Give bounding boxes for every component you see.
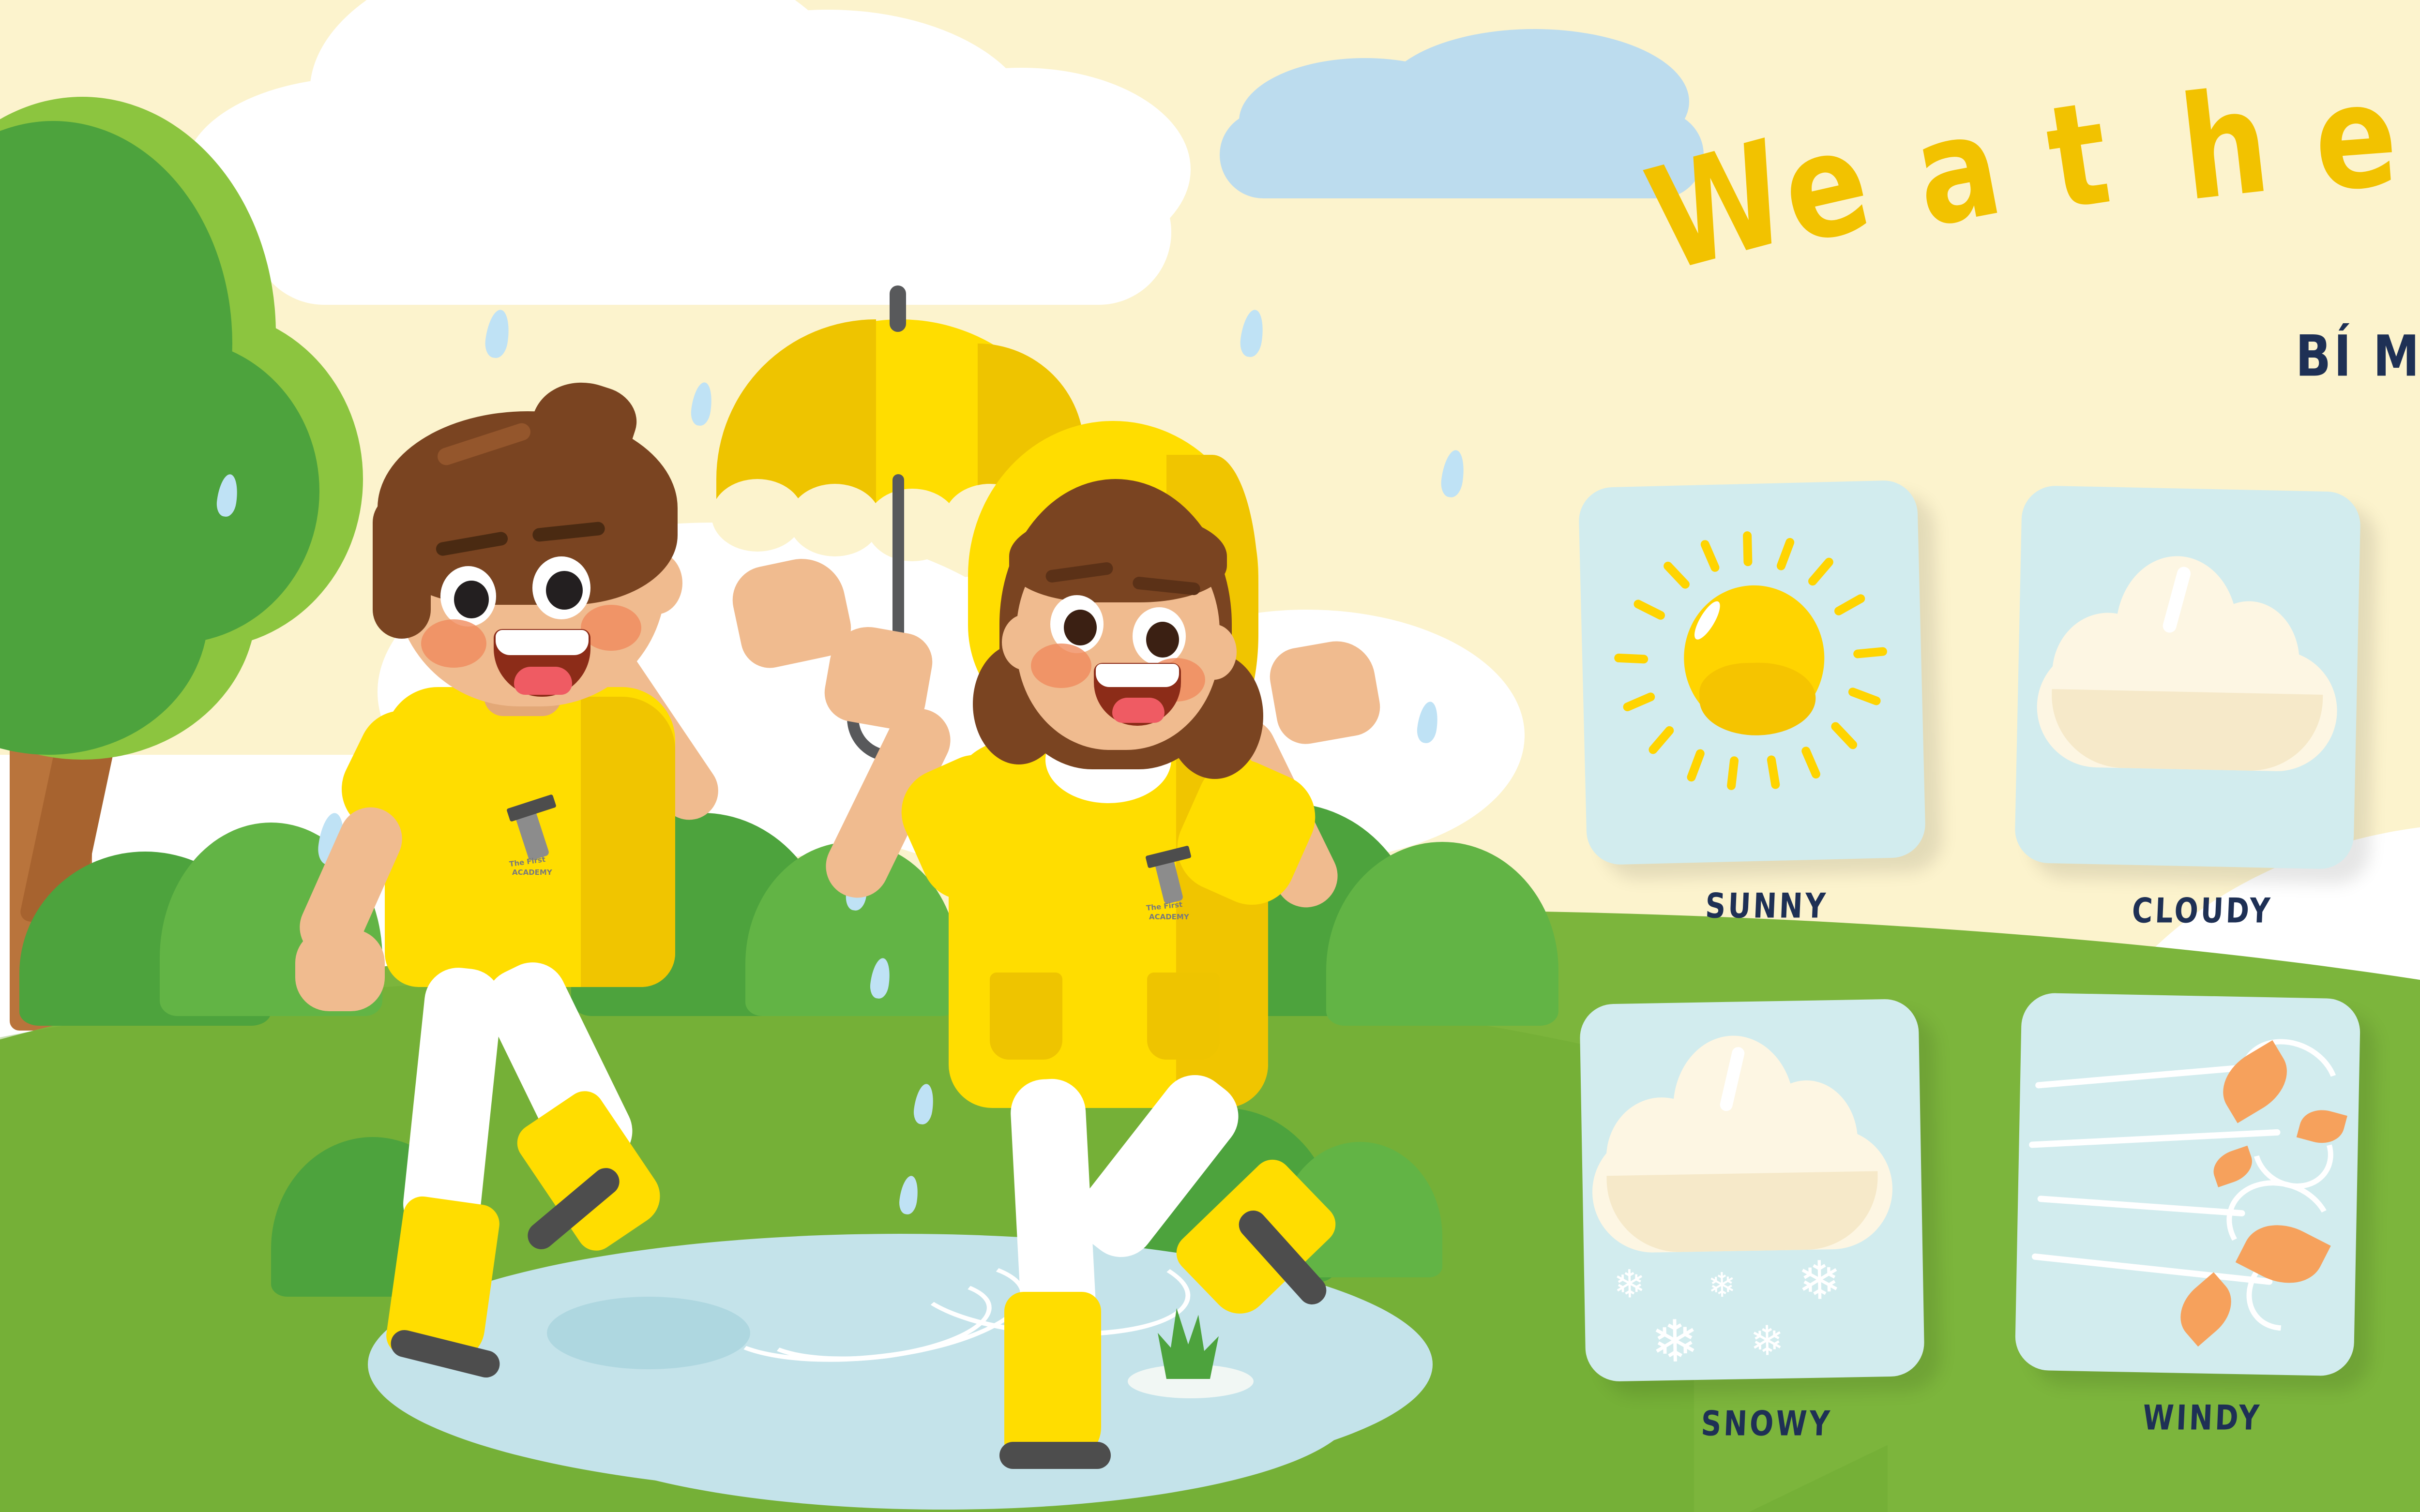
weather-card-grid: SUNNY CLOUDY (1583, 484, 2420, 1442)
weather-card-cloudy[interactable]: CLOUDY (2018, 489, 2386, 927)
weather-label-snowy: SNOWY (1582, 1404, 1951, 1444)
boy-hand (295, 929, 385, 1011)
title-letter: t (2039, 81, 2117, 231)
girl-hand (1265, 635, 1384, 749)
weather-card-snowy[interactable]: ❄ ❄ ❄ ❄ ❄ SNOWY (1583, 1002, 1951, 1440)
cloud-snow-icon: ❄ ❄ ❄ ❄ ❄ (1589, 1033, 1909, 1357)
boy-cheek (421, 619, 486, 668)
brand-logo-text-first: The First (1146, 900, 1183, 913)
girl-boot-sole (999, 1442, 1111, 1469)
girl-cheek (1031, 644, 1091, 688)
page-title: Weather Wonders (1621, 58, 2420, 261)
brand-logo: The First ACADEMY (499, 803, 586, 885)
girl-character: The First ACADEMY (886, 402, 1515, 1418)
girl-teeth (1096, 664, 1179, 687)
brand-logo: The First ACADEMY (1137, 852, 1220, 934)
card-art-sunny (1578, 480, 1926, 866)
card-art-windy (2015, 992, 2361, 1376)
title-letter: e (2309, 64, 2402, 212)
card-art-snowy: ❄ ❄ ❄ ❄ ❄ (1579, 999, 1925, 1382)
weather-label-sunny: SUNNY (1582, 886, 1951, 926)
leaf-icon (2168, 1272, 2244, 1347)
card-art-cloudy (2014, 485, 2361, 869)
brand-logo-text-academy: ACADEMY (1149, 913, 1189, 921)
leaf-icon (2208, 1146, 2257, 1187)
brand-logo-text-first: The First (509, 855, 546, 868)
girl-pupil (1146, 622, 1179, 658)
boy-shirt-shade (581, 697, 675, 987)
weather-label-cloudy: CLOUDY (2017, 891, 2387, 931)
boy-character: The First ACADEMY (290, 377, 895, 1393)
weather-label-windy: WINDY (2017, 1398, 2387, 1438)
girl-pupil (1064, 610, 1097, 645)
poster-canvas: The First ACADEMY (0, 0, 2420, 1512)
boy-hair-sideburn (373, 494, 431, 639)
cloud-icon (2036, 554, 2340, 773)
title-letter: h (2174, 70, 2276, 221)
page-subtitle: BÍ MẬT CỦA ÔNG TRỜI (1621, 323, 2420, 389)
umbrella-tip (890, 285, 906, 332)
boy-pupil (546, 571, 583, 610)
girl-rain-boot (1004, 1292, 1101, 1461)
title-letter: a (1904, 92, 2011, 248)
boy-pupil (454, 581, 489, 618)
brand-logo-text-academy: ACADEMY (512, 868, 552, 877)
girl-coat-pocket (990, 973, 1062, 1060)
weather-card-windy[interactable]: WINDY (2018, 996, 2386, 1434)
boy-teeth (496, 630, 589, 655)
sun-icon (1608, 514, 1895, 802)
girl-tongue (1112, 698, 1165, 723)
boy-tongue (514, 667, 572, 695)
weather-card-sunny[interactable]: SUNNY (1583, 484, 1951, 922)
girl-coat-pocket (1147, 973, 1220, 1060)
wind-leaves-icon (2015, 1012, 2360, 1357)
